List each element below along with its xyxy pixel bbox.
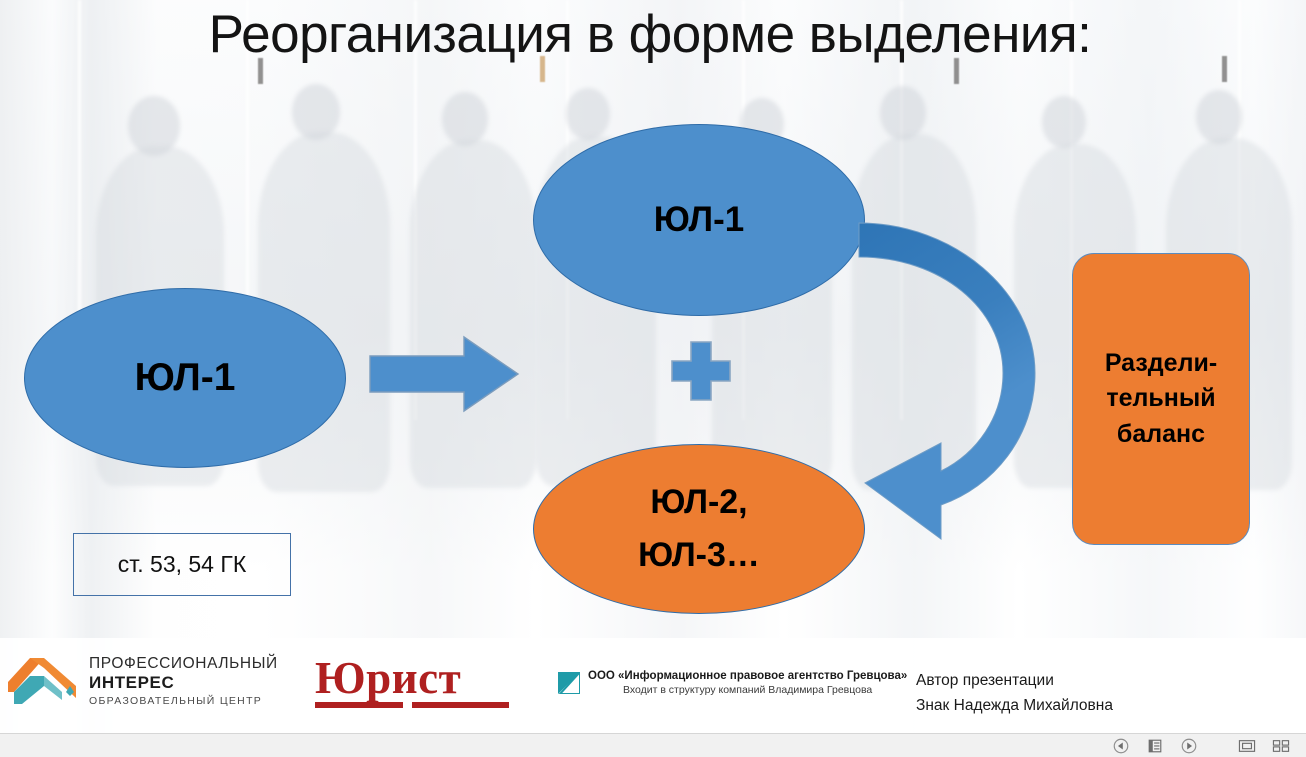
ipa-line2: Входит в структуру компаний Владимира Гр… bbox=[588, 684, 907, 696]
balance-card-line1: Раздели- bbox=[1105, 346, 1217, 382]
ellipse-result-2-label-line2: ЮЛ-3… bbox=[638, 529, 760, 582]
author-block: Автор презентации Знак Надежда Михайловн… bbox=[916, 668, 1113, 718]
slide-footer: ПРОФЕССИОНАЛЬНЫЙ ИНТЕРЕС ОБРАЗОВАТЕЛЬНЫЙ… bbox=[0, 638, 1306, 733]
ellipse-result-entity-2[interactable]: ЮЛ-2, ЮЛ-3… bbox=[533, 444, 865, 614]
jurist-underline bbox=[315, 702, 509, 708]
plus-icon bbox=[670, 340, 732, 402]
next-slide-icon[interactable] bbox=[1172, 735, 1206, 757]
ellipse-result-2-label-line1: ЮЛ-2, bbox=[638, 476, 760, 529]
slide-title: Реорганизация в форме выделения: bbox=[120, 6, 1180, 63]
pi-line2: ИНТЕРЕС bbox=[89, 673, 174, 692]
slideshow-toolbar bbox=[0, 733, 1306, 757]
author-line1: Автор презентации bbox=[916, 668, 1113, 693]
ipa-mark-icon bbox=[558, 672, 580, 694]
logo-ipa: ООО «Информационное правовое агентство Г… bbox=[558, 670, 907, 696]
menu-icon[interactable] bbox=[1138, 735, 1172, 757]
jurist-wordmark: Юрист bbox=[315, 656, 515, 700]
curved-arrow-icon bbox=[845, 205, 1060, 550]
author-line2: Знак Надежда Михайловна bbox=[916, 693, 1113, 718]
citation-box[interactable]: ст. 53, 54 ГК bbox=[73, 533, 291, 596]
pi-line3: ОБРАЗОВАТЕЛЬНЫЙ ЦЕНТР bbox=[89, 696, 278, 708]
chevron-roof-icon bbox=[8, 652, 80, 710]
presenter-view-icon[interactable] bbox=[1230, 735, 1264, 757]
previous-slide-icon[interactable] bbox=[1104, 735, 1138, 757]
balance-card-line2: тельный bbox=[1105, 381, 1217, 417]
pi-line1: ПРОФЕССИОНАЛЬНЫЙ bbox=[89, 655, 278, 672]
ellipse-result-1-label: ЮЛ-1 bbox=[654, 200, 744, 240]
ellipse-source-label: ЮЛ-1 bbox=[135, 356, 236, 400]
logo-professional-interest: ПРОФЕССИОНАЛЬНЫЙ ИНТЕРЕС ОБРАЗОВАТЕЛЬНЫЙ… bbox=[8, 652, 278, 710]
arrow-right-icon bbox=[368, 334, 520, 414]
all-slides-grid-icon[interactable] bbox=[1264, 735, 1298, 757]
slide-canvas: Реорганизация в форме выделения: ЮЛ-1 ЮЛ… bbox=[0, 0, 1306, 733]
ellipse-source-entity[interactable]: ЮЛ-1 bbox=[24, 288, 346, 468]
balance-card-line3: баланс bbox=[1105, 417, 1217, 453]
ipa-line1: ООО «Информационное правовое агентство Г… bbox=[588, 670, 907, 682]
ellipse-result-entity-1[interactable]: ЮЛ-1 bbox=[533, 124, 865, 316]
logo-jurist: Юрист bbox=[315, 656, 515, 708]
citation-label: ст. 53, 54 ГК bbox=[118, 551, 246, 578]
balance-card[interactable]: Раздели- тельный баланс bbox=[1072, 253, 1250, 545]
